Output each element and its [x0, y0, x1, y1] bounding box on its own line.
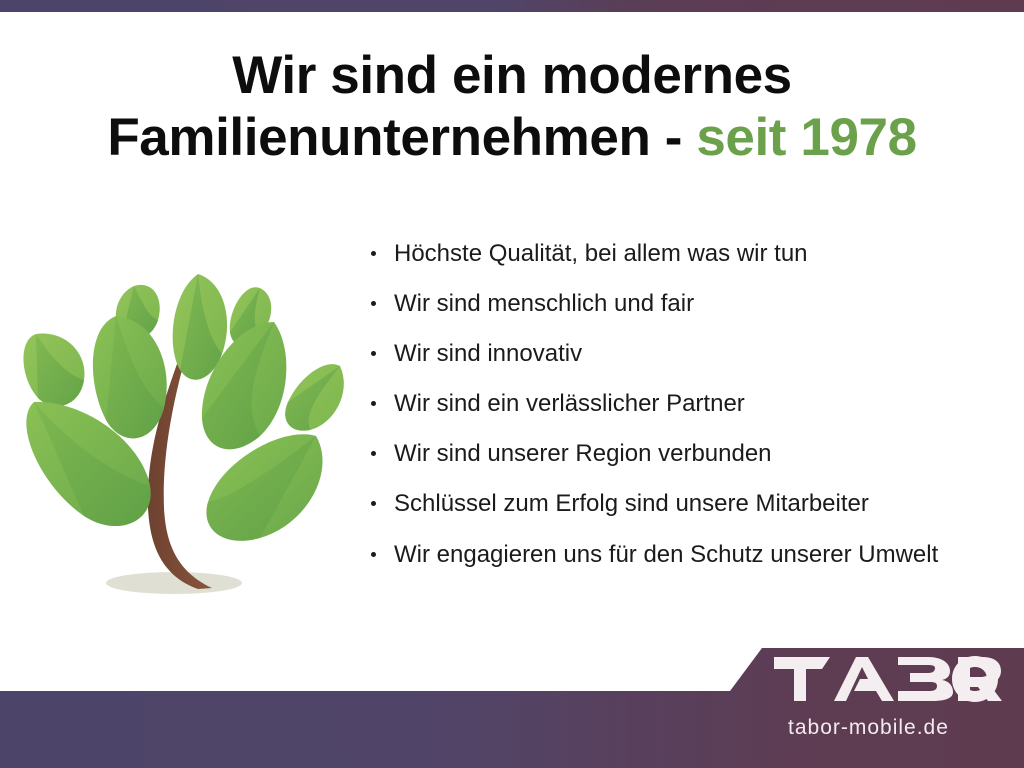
list-item: Höchste Qualität, bei allem was wir tun	[366, 240, 1016, 268]
list-item-label: Wir sind ein verlässlicher Partner	[394, 390, 745, 417]
list-item: Wir sind menschlich und fair	[366, 290, 1016, 318]
list-item-label: Schlüssel zum Erfolg sind unsere Mitarbe…	[394, 490, 869, 517]
brand-logo[interactable]: tabor-mobile.de	[772, 655, 1012, 755]
list-item: Schlüssel zum Erfolg sind unsere Mitarbe…	[366, 490, 1016, 518]
slide-canvas: Wir sind ein modernes Familienunternehme…	[0, 0, 1024, 768]
title-accent-year: seit 1978	[696, 108, 916, 167]
list-item-label: Wir sind innovativ	[394, 340, 582, 367]
title-line-1: Wir sind ein modernes	[0, 48, 1024, 104]
bullet-dot-icon	[371, 501, 376, 506]
tree-leaf-group	[23, 274, 343, 541]
list-item-label: Höchste Qualität, bei allem was wir tun	[394, 240, 808, 267]
bullet-dot-icon	[371, 301, 376, 306]
list-item: Wir sind innovativ	[366, 340, 1016, 368]
tree-icon	[22, 258, 352, 610]
list-item: Wir sind ein verlässlicher Partner	[366, 390, 1016, 418]
bullet-dot-icon	[371, 251, 376, 256]
page-title: Wir sind ein modernes Familienunternehme…	[0, 48, 1024, 166]
bullet-dot-icon	[371, 351, 376, 356]
logo-tagline: tabor-mobile.de	[788, 716, 949, 740]
list-item-label: Wir engagieren uns für den Schutz unsere…	[394, 541, 938, 568]
value-bullet-list: Höchste Qualität, bei allem was wir tun …	[366, 240, 1016, 591]
top-accent-bar	[0, 0, 1024, 12]
list-item-label: Wir sind unserer Region verbunden	[394, 440, 772, 467]
list-item: Wir engagieren uns für den Schutz unsere…	[366, 541, 1016, 569]
title-line-2-prefix: Familienunternehmen -	[107, 108, 696, 167]
list-item: Wir sind unserer Region verbunden	[366, 440, 1016, 468]
bullet-dot-icon	[371, 401, 376, 406]
title-line-2: Familienunternehmen - seit 1978	[0, 110, 1024, 166]
bullet-dot-icon	[371, 451, 376, 456]
tabor-wordmark-icon	[772, 655, 1004, 703]
tree-shadow-ellipse	[106, 572, 242, 594]
bullet-dot-icon	[371, 552, 376, 557]
list-item-label: Wir sind menschlich und fair	[394, 290, 694, 317]
